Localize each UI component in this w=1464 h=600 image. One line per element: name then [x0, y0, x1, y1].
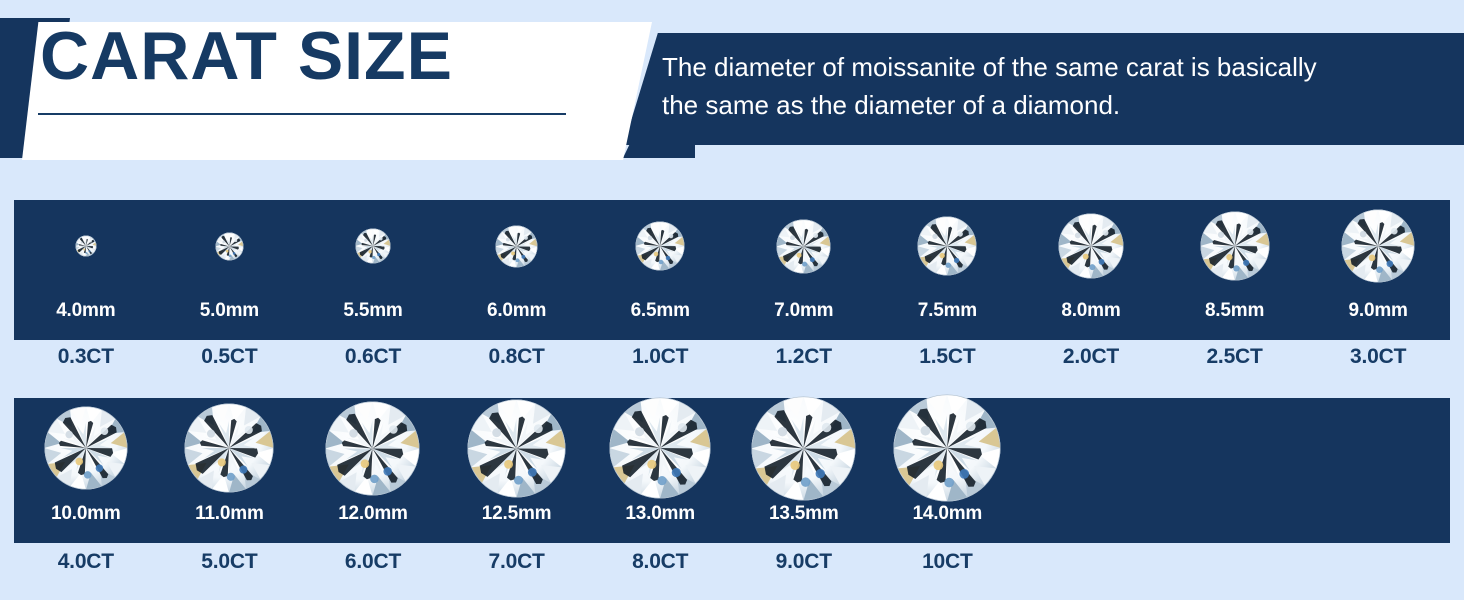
size-cell[interactable]: 9.0mm3.0CT — [1306, 200, 1450, 369]
carat-label: 0.6CT — [301, 345, 445, 369]
diamond-icon — [445, 398, 589, 498]
carat-label: 5.0CT — [158, 550, 302, 574]
diamond-icon — [732, 200, 876, 292]
carat-label: 4.0CT — [14, 550, 158, 574]
diamond-icon — [445, 200, 589, 292]
carat-label: 2.0CT — [1019, 345, 1163, 369]
diameter-label: 7.5mm — [876, 300, 1020, 322]
diamond-icon — [158, 200, 302, 292]
size-cell[interactable]: 12.0mm6.0CT — [301, 398, 445, 574]
size-row-2: 10.0mm4.0CT11.0mm5.0CT12.0mm6.0CT12.5mm7… — [0, 398, 1464, 573]
carat-label: 9.0CT — [732, 550, 876, 574]
diamond-icon — [301, 398, 445, 498]
carat-label: 1.5CT — [876, 345, 1020, 369]
size-row-2-cells: 10.0mm4.0CT11.0mm5.0CT12.0mm6.0CT12.5mm7… — [14, 398, 1450, 574]
diameter-label: 12.5mm — [445, 503, 589, 525]
carat-label: 0.8CT — [445, 345, 589, 369]
diamond-icon — [588, 200, 732, 292]
carat-label: 1.2CT — [732, 345, 876, 369]
description-text: The diameter of moissanite of the same c… — [662, 48, 1462, 124]
size-cell[interactable]: 6.5mm1.0CT — [588, 200, 732, 369]
diamond-icon — [14, 398, 158, 498]
size-cell[interactable]: 7.0mm1.2CT — [732, 200, 876, 369]
description-panel-tab — [623, 143, 695, 158]
size-cell[interactable]: 6.0mm0.8CT — [445, 200, 589, 369]
diameter-label: 7.0mm — [732, 300, 876, 322]
diameter-label: 13.0mm — [588, 503, 732, 525]
carat-label: 6.0CT — [301, 550, 445, 574]
header-banner: CARAT SIZE The diameter of moissanite of… — [0, 0, 1464, 180]
diameter-label: 5.0mm — [158, 300, 302, 322]
size-cell[interactable]: 4.0mm0.3CT — [14, 200, 158, 369]
description-line-2: the same as the diameter of a diamond. — [662, 86, 1462, 124]
description-line-1: The diameter of moissanite of the same c… — [662, 48, 1462, 86]
carat-label: 2.5CT — [1163, 345, 1307, 369]
size-cell[interactable]: 7.5mm1.5CT — [876, 200, 1020, 369]
diameter-label: 14.0mm — [876, 503, 1020, 525]
diamond-icon — [732, 398, 876, 498]
diamond-icon — [876, 398, 1020, 498]
diamond-icon — [876, 200, 1020, 292]
size-cell[interactable]: 13.5mm9.0CT — [732, 398, 876, 574]
diamond-icon — [301, 200, 445, 292]
diamond-icon — [1306, 200, 1450, 292]
diameter-label: 9.0mm — [1306, 300, 1450, 322]
diamond-icon — [158, 398, 302, 498]
diamond-icon — [1163, 200, 1307, 292]
carat-label: 1.0CT — [588, 345, 732, 369]
diamond-icon — [588, 398, 732, 498]
size-cell[interactable]: 14.0mm10CT — [876, 398, 1020, 574]
diameter-label: 13.5mm — [732, 503, 876, 525]
diameter-label: 12.0mm — [301, 503, 445, 525]
size-row-1-cells: 4.0mm0.3CT5.0mm0.5CT5.5mm0.6CT6.0mm0.8CT… — [14, 200, 1450, 369]
diameter-label: 6.5mm — [588, 300, 732, 322]
size-cell[interactable]: 5.0mm0.5CT — [158, 200, 302, 369]
carat-label: 0.3CT — [14, 345, 158, 369]
carat-label: 3.0CT — [1306, 345, 1450, 369]
diameter-label: 5.5mm — [301, 300, 445, 322]
diameter-label: 8.0mm — [1019, 300, 1163, 322]
size-cell[interactable]: 8.5mm2.5CT — [1163, 200, 1307, 369]
diamond-icon — [14, 200, 158, 292]
diameter-label: 8.5mm — [1163, 300, 1307, 322]
title-underline-rule — [38, 113, 566, 115]
carat-label: 7.0CT — [445, 550, 589, 574]
diamond-icon — [1019, 200, 1163, 292]
diameter-label: 10.0mm — [14, 503, 158, 525]
size-cell[interactable]: 5.5mm0.6CT — [301, 200, 445, 369]
size-cell[interactable]: 10.0mm4.0CT — [14, 398, 158, 574]
size-cell[interactable]: 12.5mm7.0CT — [445, 398, 589, 574]
carat-label: 10CT — [876, 550, 1020, 574]
carat-label: 0.5CT — [158, 345, 302, 369]
size-cell[interactable]: 13.0mm8.0CT — [588, 398, 732, 574]
page-title: CARAT SIZE — [40, 22, 453, 90]
carat-label: 8.0CT — [588, 550, 732, 574]
size-cell[interactable]: 8.0mm2.0CT — [1019, 200, 1163, 369]
diameter-label: 11.0mm — [158, 503, 302, 525]
size-cell[interactable]: 11.0mm5.0CT — [158, 398, 302, 574]
size-row-1: 4.0mm0.3CT5.0mm0.5CT5.5mm0.6CT6.0mm0.8CT… — [0, 200, 1464, 370]
diameter-label: 6.0mm — [445, 300, 589, 322]
diameter-label: 4.0mm — [14, 300, 158, 322]
